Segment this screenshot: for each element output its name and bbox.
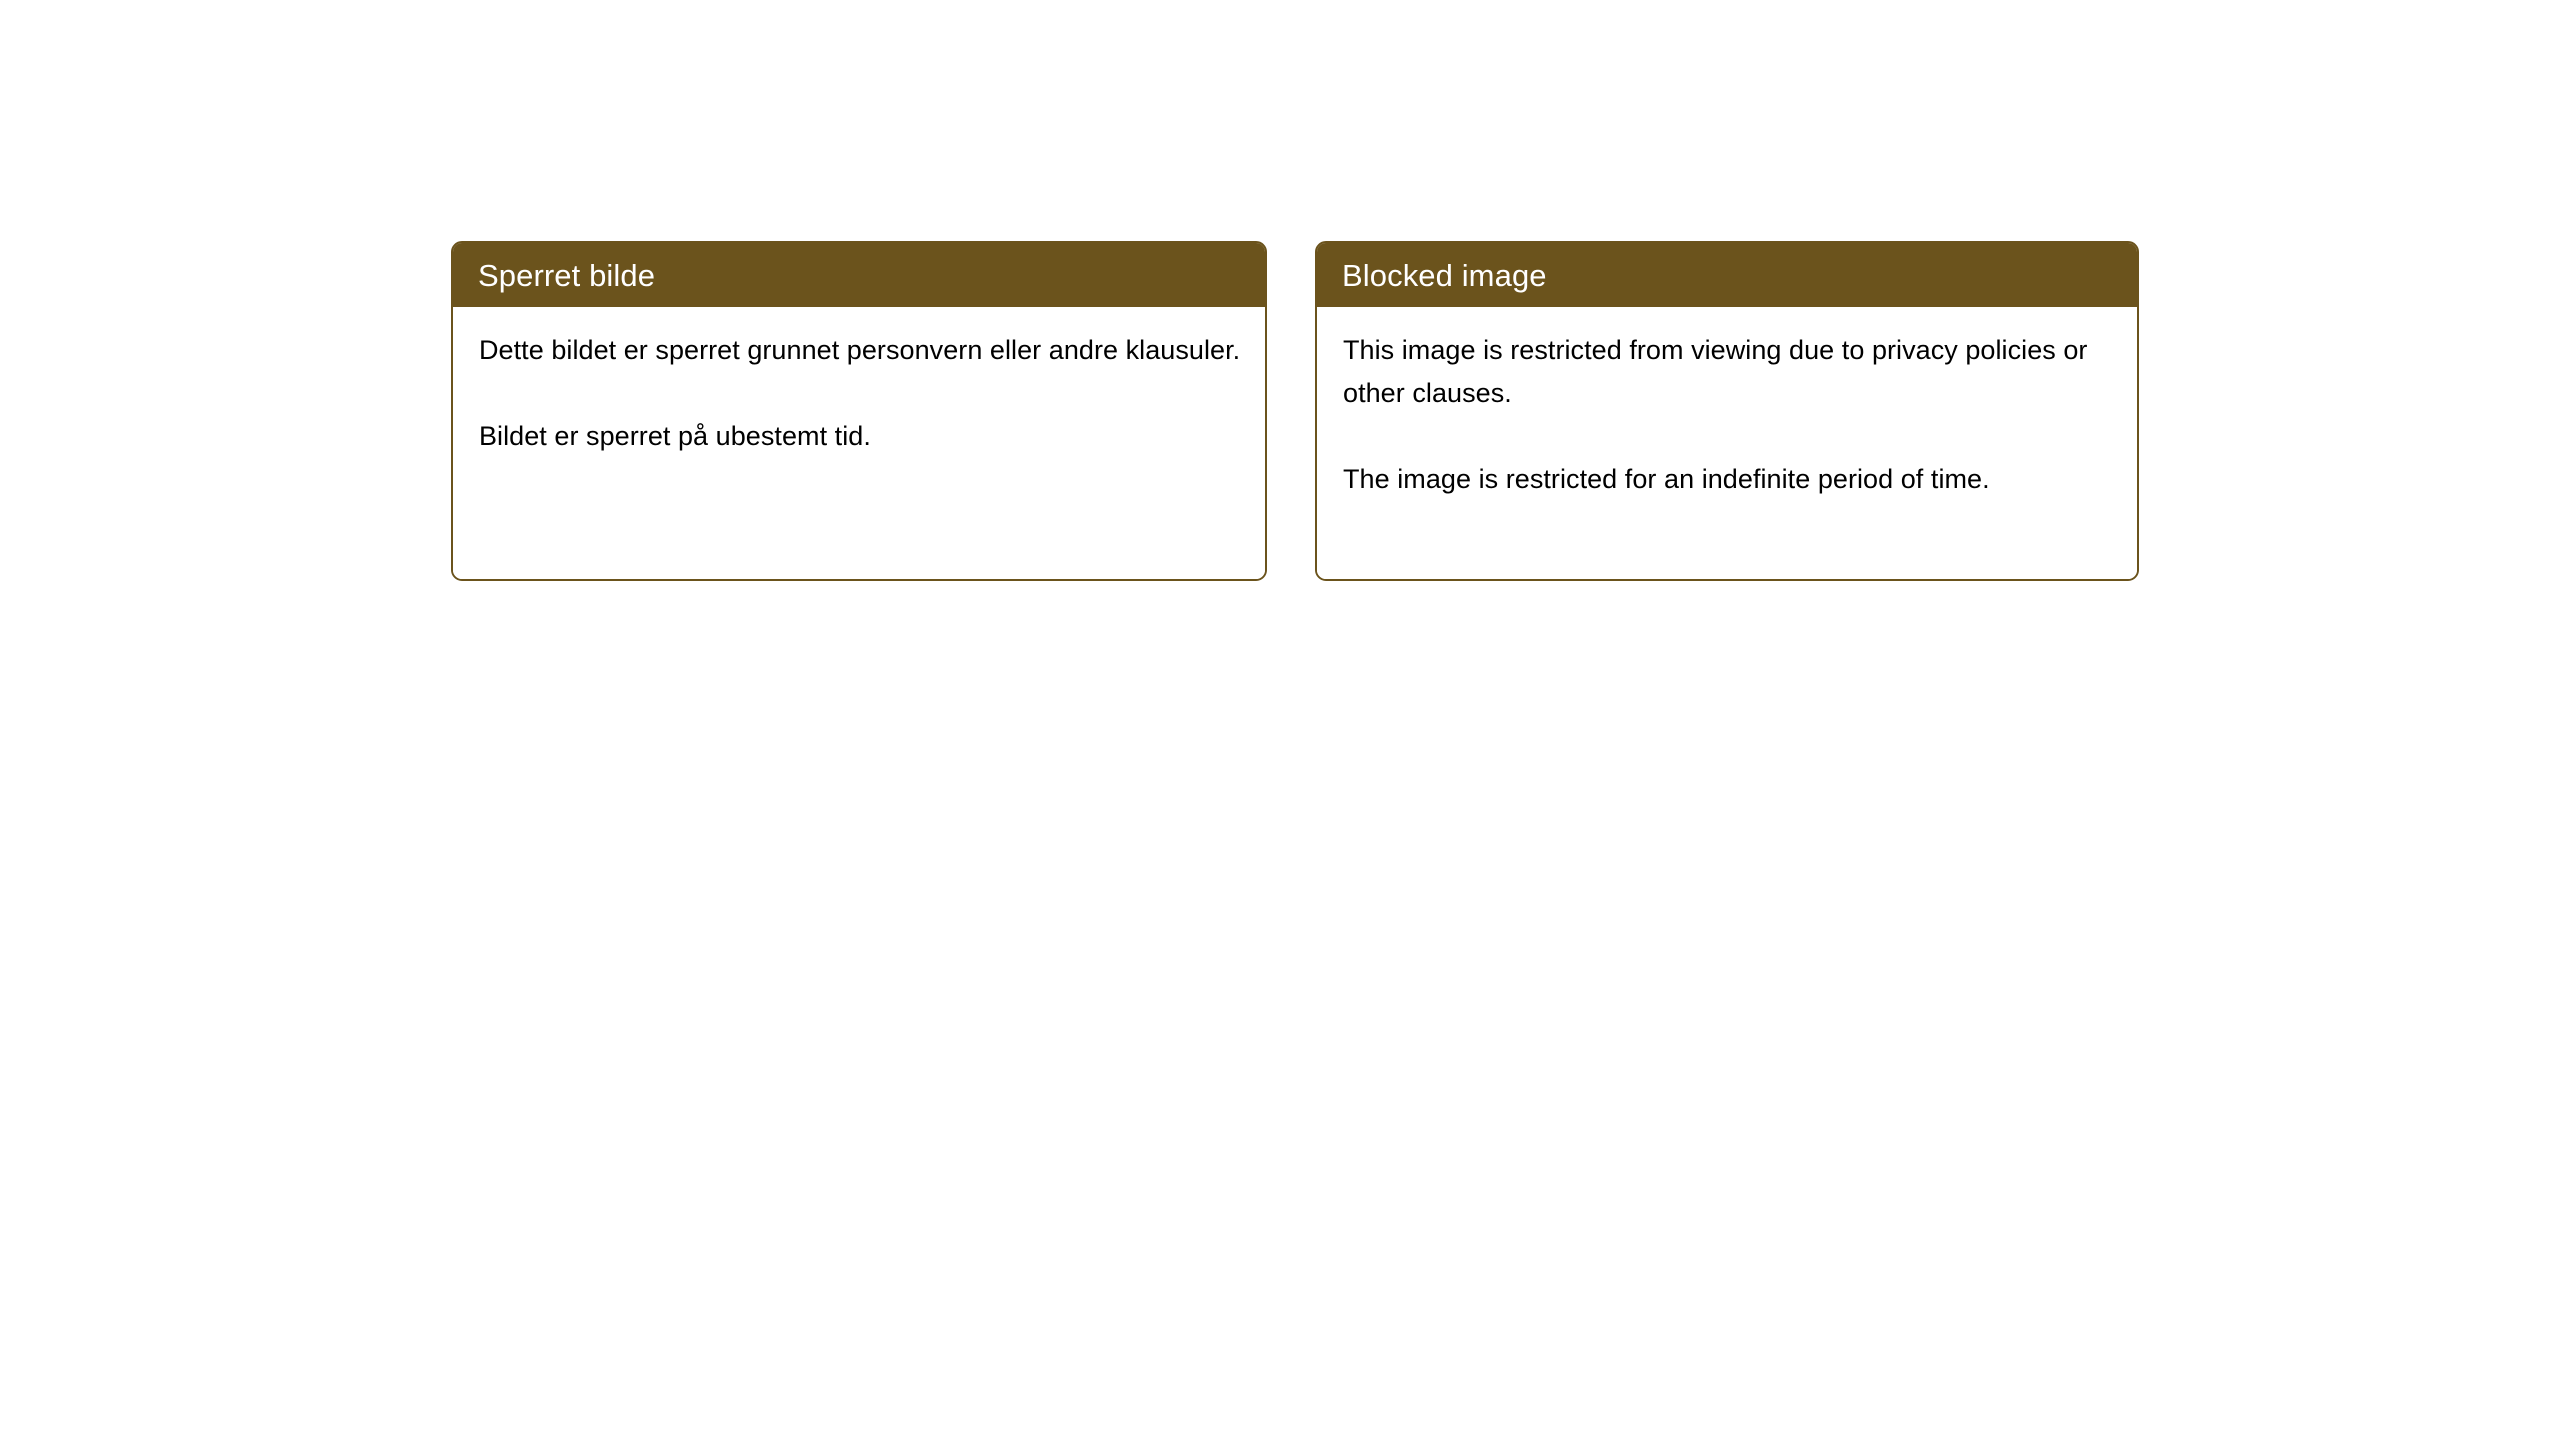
card-paragraph-secondary-norwegian: Bildet er sperret på ubestemt tid. [479,415,1241,458]
blocked-image-notice-card-english: Blocked image This image is restricted f… [1315,241,2139,581]
paragraph-spacer [1343,415,2113,458]
card-body-norwegian: Dette bildet er sperret grunnet personve… [453,307,1265,579]
card-paragraph-primary-norwegian: Dette bildet er sperret grunnet personve… [479,329,1241,372]
card-header-english: Blocked image [1317,243,2137,307]
card-paragraph-secondary-english: The image is restricted for an indefinit… [1343,458,2113,501]
card-header-norwegian: Sperret bilde [453,243,1265,307]
card-title-norwegian: Sperret bilde [478,260,655,291]
page-canvas: Sperret bilde Dette bildet er sperret gr… [0,0,2560,1440]
card-paragraph-primary-english: This image is restricted from viewing du… [1343,329,2113,415]
paragraph-spacer [479,372,1241,415]
card-title-english: Blocked image [1342,260,1547,291]
blocked-image-notice-card-norwegian: Sperret bilde Dette bildet er sperret gr… [451,241,1267,581]
card-body-english: This image is restricted from viewing du… [1317,307,2137,579]
